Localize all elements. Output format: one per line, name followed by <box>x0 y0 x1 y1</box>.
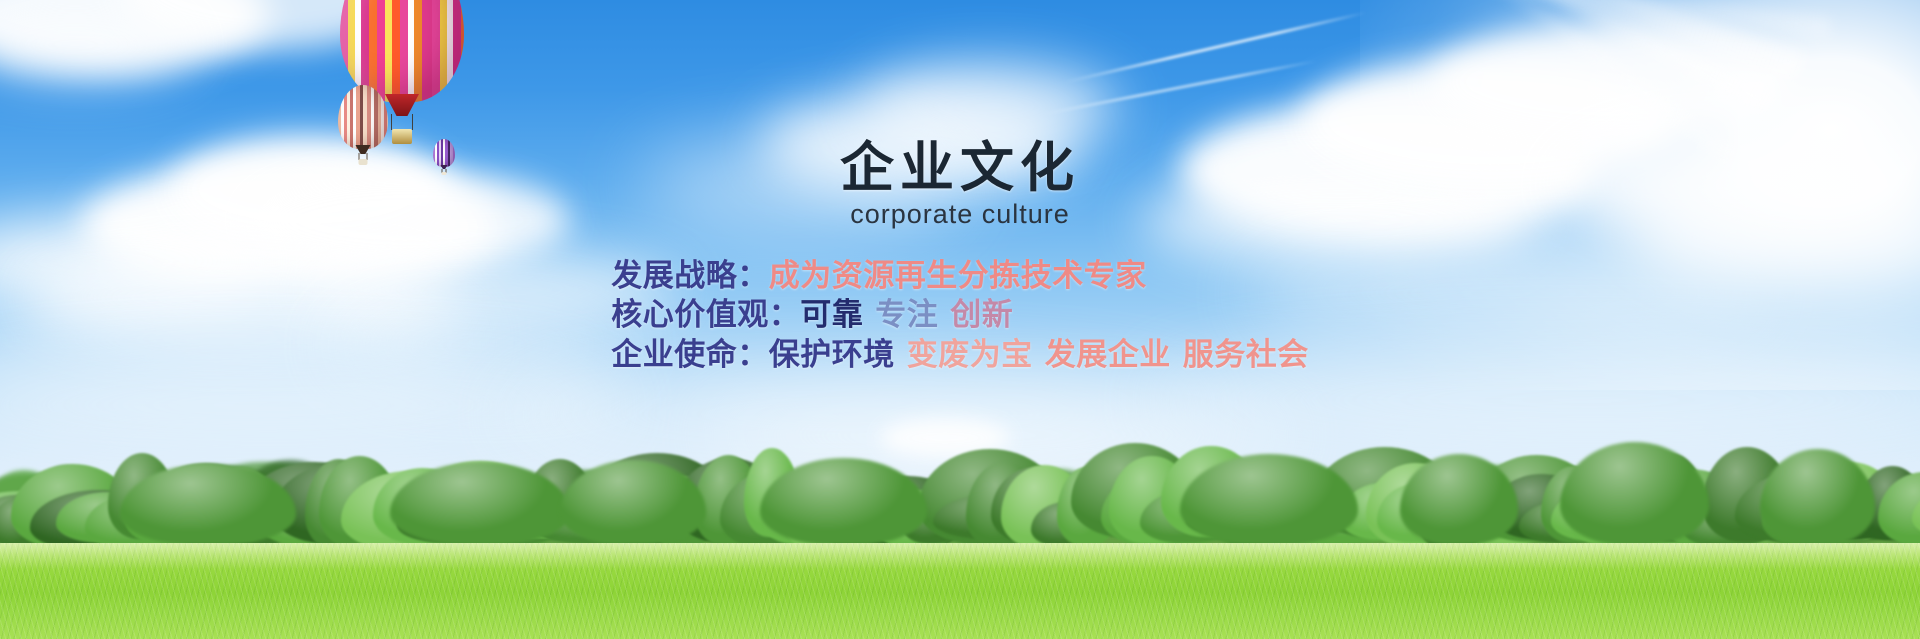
tree <box>293 472 392 540</box>
tree <box>822 462 875 548</box>
tree <box>125 474 238 548</box>
tree <box>0 474 88 542</box>
tree <box>1646 473 1712 534</box>
tree <box>569 464 700 540</box>
tree <box>902 495 963 543</box>
tree <box>638 487 723 528</box>
culture-statement-line: 核心价值观：可靠专注创新 <box>611 295 1309 335</box>
tree <box>862 486 952 533</box>
tree <box>918 449 1062 545</box>
tree <box>744 448 800 537</box>
tree <box>1122 469 1219 540</box>
tree <box>1707 491 1833 542</box>
tree <box>1057 467 1115 545</box>
tree <box>848 476 969 548</box>
tree <box>661 473 757 536</box>
tree <box>218 477 319 535</box>
tree <box>1409 481 1551 549</box>
tree <box>1078 472 1207 532</box>
tree <box>975 499 1083 543</box>
tree <box>1908 494 1920 538</box>
tree <box>0 491 85 543</box>
tree <box>1242 475 1386 541</box>
tree <box>241 460 340 528</box>
tree <box>1140 491 1234 543</box>
tree <box>580 507 664 542</box>
tree <box>1673 470 1807 532</box>
tree <box>745 501 873 536</box>
tree <box>166 483 254 536</box>
tree <box>1912 481 1920 542</box>
tree <box>1019 469 1102 531</box>
tree <box>1377 484 1456 543</box>
tree <box>1442 475 1585 539</box>
tree <box>1640 454 1705 543</box>
tree <box>423 488 530 533</box>
grass-field <box>0 543 1920 639</box>
tree <box>461 475 567 545</box>
statement-value: 可靠 <box>800 297 863 332</box>
tree <box>1161 446 1260 538</box>
tree <box>1846 478 1912 539</box>
statement-value: 专注 <box>875 297 938 332</box>
tree <box>966 462 1042 551</box>
statement-value: 成为资源再生分拣技术专家 <box>769 258 1147 293</box>
page-title: 企业文化 <box>0 140 1920 197</box>
tree <box>1335 474 1461 542</box>
tree <box>144 463 267 541</box>
tree <box>1386 479 1525 534</box>
tree <box>1360 483 1425 541</box>
tree <box>0 498 44 548</box>
tree <box>414 461 547 538</box>
tree <box>1340 483 1425 541</box>
tree <box>1621 467 1725 528</box>
tree <box>1760 449 1875 545</box>
tree <box>1541 466 1607 543</box>
tree <box>1109 456 1194 543</box>
tree <box>174 500 293 549</box>
tree <box>1001 465 1088 549</box>
tree <box>194 470 286 550</box>
tree <box>485 478 601 538</box>
tree <box>484 474 548 533</box>
tree <box>790 489 872 533</box>
tree <box>511 470 646 540</box>
tree <box>536 502 662 544</box>
tree <box>1568 465 1655 536</box>
tree <box>925 484 1021 535</box>
statement-value: 发展企业 <box>1045 337 1171 372</box>
page-subtitle: corporate culture <box>0 199 1920 230</box>
tree <box>675 458 785 543</box>
tree <box>843 500 938 543</box>
tree <box>560 460 706 545</box>
tree <box>1881 501 1920 541</box>
tree <box>611 485 752 539</box>
tree <box>1820 486 1883 540</box>
tree <box>108 453 177 539</box>
statement-label: 核心价值观： <box>611 297 800 332</box>
tree <box>1519 501 1609 543</box>
tree <box>193 462 335 528</box>
tree <box>558 472 624 541</box>
tree <box>390 462 570 545</box>
tree <box>93 477 223 533</box>
tree <box>493 488 611 538</box>
tree <box>876 490 955 549</box>
tree <box>1262 497 1333 536</box>
tree <box>35 467 95 536</box>
tree <box>1417 468 1554 529</box>
tree <box>1702 447 1792 542</box>
banner-text-block: 企业文化 corporate culture 发展战略：成为资源再生分拣技术专家… <box>0 140 1920 375</box>
tree <box>1400 454 1518 545</box>
tree <box>1801 462 1899 540</box>
tree <box>1366 463 1465 546</box>
tree <box>1768 488 1863 537</box>
tree <box>1154 498 1280 537</box>
tree <box>1801 487 1907 528</box>
tree <box>1031 502 1101 547</box>
tree <box>1597 482 1703 532</box>
tree <box>612 491 694 548</box>
statement-value: 变废为宝 <box>907 337 1033 372</box>
tree <box>1571 488 1648 545</box>
tree <box>1599 445 1660 540</box>
tree <box>708 492 832 540</box>
tree <box>108 487 173 527</box>
tree <box>262 497 398 547</box>
tree <box>1473 455 1600 542</box>
tree <box>1220 500 1273 546</box>
tree <box>401 472 504 537</box>
tree <box>0 470 62 534</box>
tree <box>57 491 123 539</box>
tree <box>1071 443 1199 539</box>
tree <box>821 492 912 541</box>
tree <box>85 494 192 548</box>
tree <box>786 491 853 551</box>
tree <box>1721 464 1868 537</box>
tree <box>319 456 400 549</box>
tree <box>16 476 128 542</box>
tree <box>1551 493 1624 531</box>
tree <box>11 464 135 549</box>
tree <box>763 490 847 545</box>
tree <box>341 471 477 551</box>
tree <box>120 464 296 545</box>
tree <box>1551 489 1645 541</box>
tree <box>1750 499 1815 541</box>
tree <box>265 470 371 542</box>
statement-value: 创新 <box>950 297 1013 332</box>
tree <box>1233 458 1299 531</box>
tree <box>1829 487 1892 528</box>
tree <box>1855 482 1920 543</box>
tree <box>1560 442 1709 545</box>
tree <box>1188 462 1299 531</box>
tree <box>1055 485 1134 531</box>
tree <box>1186 495 1308 538</box>
tree <box>1180 454 1358 545</box>
tree <box>305 459 373 550</box>
tree <box>56 492 160 542</box>
statement-label: 发展战略： <box>611 258 769 293</box>
tree <box>1491 474 1592 540</box>
tree <box>1438 465 1567 534</box>
tree <box>1209 490 1305 533</box>
tree <box>1270 485 1388 545</box>
tree <box>1777 473 1908 543</box>
tree <box>1735 472 1871 542</box>
tree <box>1662 470 1735 547</box>
tree <box>1878 472 1920 546</box>
tree <box>686 481 777 528</box>
tree <box>536 501 651 538</box>
tree <box>0 495 56 538</box>
tree <box>651 476 714 549</box>
tree <box>1111 496 1201 531</box>
tree <box>1286 492 1424 539</box>
tree <box>1496 461 1564 530</box>
tree <box>30 490 168 551</box>
tree <box>1630 479 1729 548</box>
statement-value: 保护环境 <box>769 337 895 372</box>
statement-value: 服务社会 <box>1183 337 1309 372</box>
statement-label: 企业使命： <box>611 337 769 372</box>
tree <box>457 472 545 539</box>
tree <box>947 478 1028 533</box>
tree <box>720 471 828 549</box>
tree <box>397 497 512 543</box>
tree <box>1101 469 1231 548</box>
tree <box>376 481 453 540</box>
tree <box>635 487 752 541</box>
tree <box>1294 495 1407 544</box>
tree <box>1683 504 1771 547</box>
tree <box>273 464 405 544</box>
tree <box>373 468 472 544</box>
tree <box>998 475 1107 528</box>
tree <box>1312 447 1457 538</box>
tree <box>525 459 595 538</box>
tree <box>814 487 904 540</box>
tree <box>991 467 1080 544</box>
tree <box>244 462 386 542</box>
tree <box>933 494 1058 539</box>
tree <box>1762 480 1872 548</box>
tree <box>208 467 277 541</box>
tree <box>1859 466 1920 540</box>
tree <box>774 498 848 543</box>
tree <box>1199 469 1295 544</box>
tree <box>145 466 294 533</box>
tree <box>1466 483 1533 532</box>
landscape-ground <box>0 439 1920 639</box>
tree <box>324 484 458 534</box>
tree <box>1523 486 1602 535</box>
tree <box>358 476 433 541</box>
corporate-culture-banner: 企业文化 corporate culture 发展战略：成为资源再生分拣技术专家… <box>0 0 1920 639</box>
tree <box>694 455 763 546</box>
culture-statement-list: 发展战略：成为资源再生分拣技术专家核心价值观：可靠专注创新企业使命：保护环境变废… <box>611 256 1309 375</box>
culture-statement-line: 企业使命：保护环境变废为宝发展企业服务社会 <box>611 335 1309 375</box>
treeline <box>0 441 1920 553</box>
culture-statement-line: 发展战略：成为资源再生分拣技术专家 <box>611 256 1309 296</box>
tree <box>760 458 927 545</box>
tree <box>585 453 729 539</box>
tree <box>1311 492 1403 528</box>
tree <box>898 505 979 540</box>
tree <box>440 472 570 548</box>
